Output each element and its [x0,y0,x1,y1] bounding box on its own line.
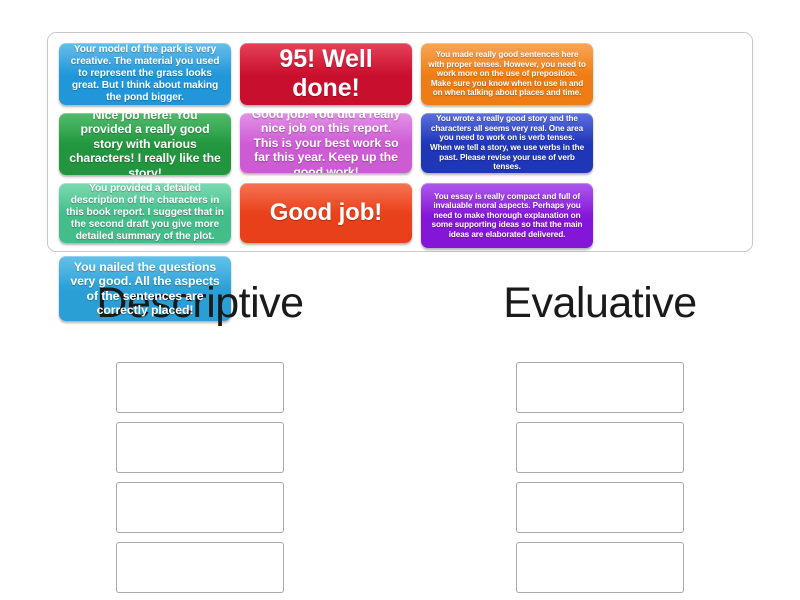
answer-tile-text: Your model of the park is very creative.… [66,44,224,104]
answer-tile-text: You essay is really compact and full of … [428,192,586,240]
dropzone[interactable] [116,362,284,413]
answer-tiles-tray: Your model of the park is very creative.… [47,32,753,252]
dropzone-group-descriptive [0,362,400,600]
dropzone[interactable] [516,542,684,593]
dropzone-group-evaluative [400,362,800,600]
activity-stage: Your model of the park is very creative.… [0,0,800,600]
answer-tile[interactable]: You essay is really compact and full of … [421,183,593,248]
answer-tile[interactable]: You provided a detailed description of t… [59,183,231,243]
dropzone[interactable] [516,422,684,473]
answer-tile[interactable]: 95! Well done! [240,43,412,105]
answer-tile[interactable]: Good job! You did a really nice job on t… [240,113,412,173]
answer-tile-text: Good job! You did a really nice job on t… [247,113,405,173]
column-evaluative: Evaluative [400,280,800,600]
answer-tile[interactable]: You nailed the questions very good. All … [59,256,231,321]
answer-tile-text: You made really good sentences here with… [428,50,586,98]
answer-tile-text: 95! Well done! [247,45,405,104]
column-heading-evaluative: Evaluative [400,280,800,350]
dropzone[interactable] [516,482,684,533]
answer-tile-text: Good job! [270,199,382,227]
dropzone[interactable] [516,362,684,413]
answer-tile-text: You wrote a really good story and the ch… [428,114,586,172]
answer-tile[interactable]: You made really good sentences here with… [421,43,593,105]
answer-tile-text: You provided a detailed description of t… [66,183,224,243]
answer-tile[interactable]: Nice job here! You provided a really goo… [59,113,231,175]
answer-tile[interactable]: You wrote a really good story and the ch… [421,113,593,173]
dropzone[interactable] [116,542,284,593]
answer-tile[interactable]: Good job! [240,183,412,243]
answer-tile-text: You nailed the questions very good. All … [66,260,224,318]
sort-columns: Descriptive Evaluative [0,280,800,600]
dropzone[interactable] [116,422,284,473]
answer-tile-text: Nice job here! You provided a really goo… [66,113,224,175]
dropzone[interactable] [116,482,284,533]
answer-tile[interactable]: Your model of the park is very creative.… [59,43,231,105]
column-descriptive: Descriptive [0,280,400,600]
